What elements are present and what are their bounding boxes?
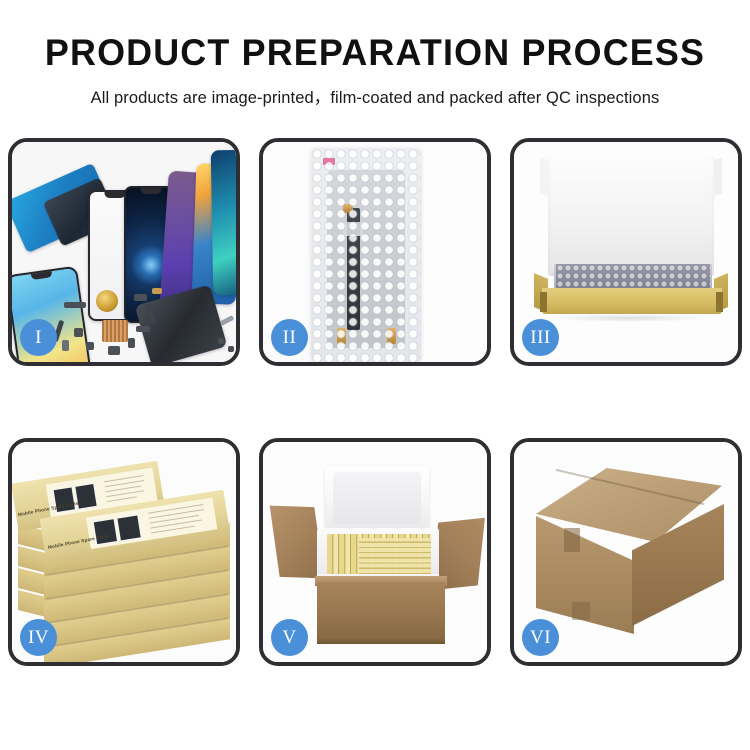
connector-grid-part-icon: [102, 320, 128, 342]
step-number-badge-5: V: [271, 619, 308, 656]
gold-contact-icon: [337, 328, 346, 344]
gold-contact-icon: [343, 204, 353, 213]
process-step-panel-5[interactable]: V: [259, 438, 491, 666]
phone-notch-icon: [141, 188, 162, 194]
page-header: PRODUCT PREPARATION PROCESS All products…: [0, 0, 750, 108]
small-part-icon: [108, 346, 120, 355]
small-part-icon: [62, 340, 69, 351]
foam-lid-inner-face-icon: [333, 472, 421, 524]
carton-tape-patch-icon: [564, 528, 580, 552]
lcd-driver-ic-icon: [343, 222, 363, 236]
process-step-panel-2[interactable]: II: [259, 138, 491, 366]
box-label-screen-image-icon: [116, 514, 141, 541]
small-part-icon: [228, 346, 234, 352]
gold-coil-part-icon: [96, 290, 118, 312]
phone-teal-display-icon: [211, 150, 236, 296]
page-title: PRODUCT PREPARATION PROCESS: [11, 34, 739, 71]
small-part-icon: [218, 338, 224, 344]
small-part-icon: [134, 294, 147, 301]
step-number-badge-2: II: [271, 319, 308, 356]
process-step-panel-3[interactable]: III: [510, 138, 742, 366]
process-steps-grid: I II: [8, 138, 742, 666]
drop-shadow: [548, 314, 710, 322]
box-label-screen-image-icon: [74, 483, 98, 510]
phone-notch-icon: [31, 271, 53, 280]
small-part-icon: [74, 328, 83, 337]
process-step-panel-4[interactable]: Mobile Phone Spare Parts Mobile Phone Sp…: [8, 438, 240, 666]
box-label-screen-image-icon: [93, 518, 118, 545]
bubble-wrapped-contents-icon: [556, 264, 710, 290]
step-number-badge-1: I: [20, 319, 57, 356]
pink-qc-label-icon: [323, 158, 335, 165]
small-part-icon: [86, 342, 94, 350]
tray-corner-shadow-icon: [716, 292, 723, 312]
lcd-screen-icon: [327, 170, 405, 348]
small-part-icon: [64, 302, 86, 308]
gold-contact-icon: [387, 328, 396, 344]
step-number-badge-4: IV: [20, 619, 57, 656]
process-step-panel-6[interactable]: VI: [510, 438, 742, 666]
kraft-tray-front-icon: [542, 288, 722, 314]
small-part-icon: [152, 288, 162, 294]
tray-corner-shadow-icon: [540, 292, 547, 312]
carton-tape-patch-icon: [572, 602, 590, 620]
small-part-icon: [128, 338, 135, 348]
page-subtitle: All products are image-printed，film-coat…: [0, 71, 750, 108]
kraft-boxes-inside-icon: [359, 538, 431, 578]
small-part-icon: [136, 326, 150, 332]
phone-notch-icon: [104, 192, 125, 198]
step-number-badge-3: III: [522, 319, 559, 356]
carton-body-icon: [317, 582, 445, 644]
white-box-lid-icon: [548, 156, 714, 276]
process-step-panel-1[interactable]: I: [8, 138, 240, 366]
step-number-badge-6: VI: [522, 619, 559, 656]
